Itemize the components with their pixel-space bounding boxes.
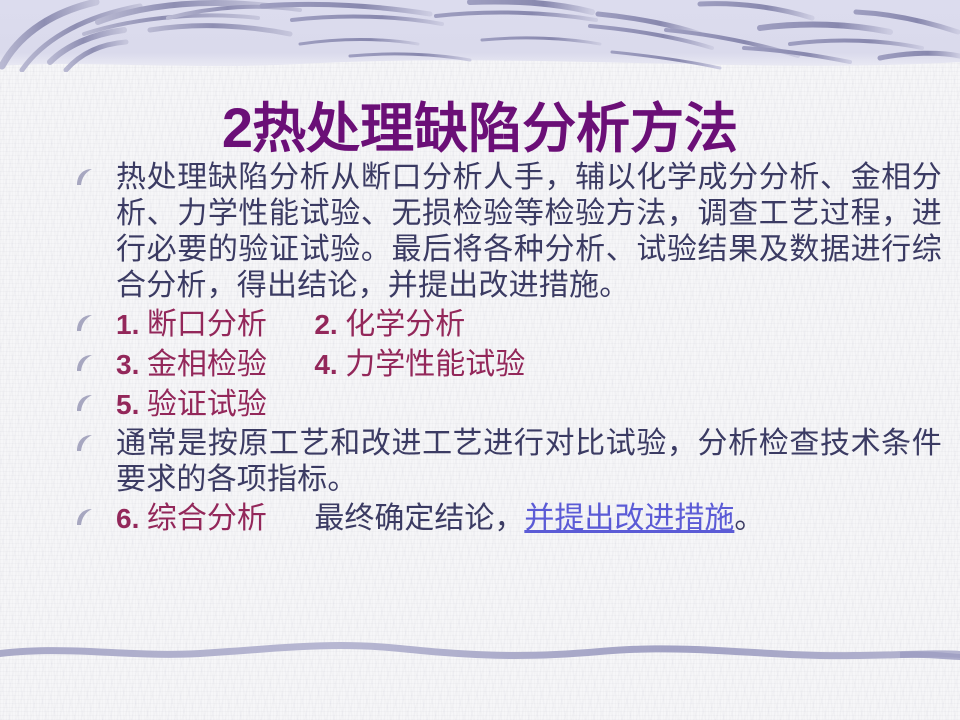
method-single-row: 5. 验证试验: [116, 386, 942, 424]
method-pair-row: 1. 断口分析 2. 化学分析: [116, 306, 942, 344]
improvement-measures-link[interactable]: 并提出改进措施: [524, 502, 734, 535]
comma-arc-bullet-icon: [74, 434, 96, 454]
slide-canvas: 2热处理缺陷分析方法 热处理缺陷分析从断口分析人手，辅以化学成分分析、金相分析、…: [0, 0, 960, 720]
comma-arc-bullet-icon: [74, 394, 96, 414]
list-item: 6. 综合分析 最终确定结论，并提出改进措施。: [62, 500, 942, 538]
list-item: 通常是按原工艺和改进工艺进行对比试验，分析检查技术条件要求的各项指标。: [62, 426, 942, 498]
wavy-brush-banner: [0, 0, 960, 72]
method-number-2: 2.: [314, 309, 337, 340]
comma-arc-bullet-icon: [74, 508, 96, 528]
list-item: 1. 断口分析 2. 化学分析: [62, 306, 942, 344]
method-label-6: 综合分析: [147, 500, 307, 538]
method-number-6: 6.: [116, 503, 139, 534]
list-item: 3. 金相检验 4. 力学性能试验: [62, 346, 942, 384]
list-item: 热处理缺陷分析从断口分析人手，辅以化学成分分析、金相分析、力学性能试验、无损检验…: [62, 160, 942, 304]
method-number-4: 4.: [314, 349, 337, 380]
wavy-line-band: [0, 628, 960, 720]
slide-title: 2热处理缺陷分析方法: [0, 84, 960, 163]
method-pair-row: 3. 金相检验 4. 力学性能试验: [116, 346, 942, 384]
method-label-1: 断口分析: [147, 306, 307, 344]
method-number-3: 3.: [116, 349, 139, 380]
comma-arc-bullet-icon: [74, 354, 96, 374]
slide-body: 热处理缺陷分析从断口分析人手，辅以化学成分分析、金相分析、力学性能试验、无损检验…: [62, 160, 942, 540]
comparison-paragraph: 通常是按原工艺和改进工艺进行对比试验，分析检查技术条件要求的各项指标。: [116, 426, 942, 498]
conclusion-text: 最终确定结论，: [314, 502, 524, 535]
method-label-4: 力学性能试验: [345, 348, 525, 381]
method-link-row: 6. 综合分析 最终确定结论，并提出改进措施。: [116, 500, 942, 538]
method-number-5: 5.: [116, 389, 139, 420]
method-label-5: 验证试验: [147, 388, 267, 421]
list-item: 5. 验证试验: [62, 386, 942, 424]
method-number-1: 1.: [116, 309, 139, 340]
comma-arc-bullet-icon: [74, 314, 96, 334]
method-label-3: 金相检验: [147, 346, 307, 384]
comma-arc-bullet-icon: [74, 168, 96, 188]
method-label-2: 化学分析: [345, 308, 465, 341]
title-number: 2: [222, 96, 252, 159]
intro-paragraph: 热处理缺陷分析从断口分析人手，辅以化学成分分析、金相分析、力学性能试验、无损检验…: [116, 160, 942, 304]
title-text: 热处理缺陷分析方法: [252, 99, 738, 159]
conclusion-period: 。: [734, 502, 764, 535]
